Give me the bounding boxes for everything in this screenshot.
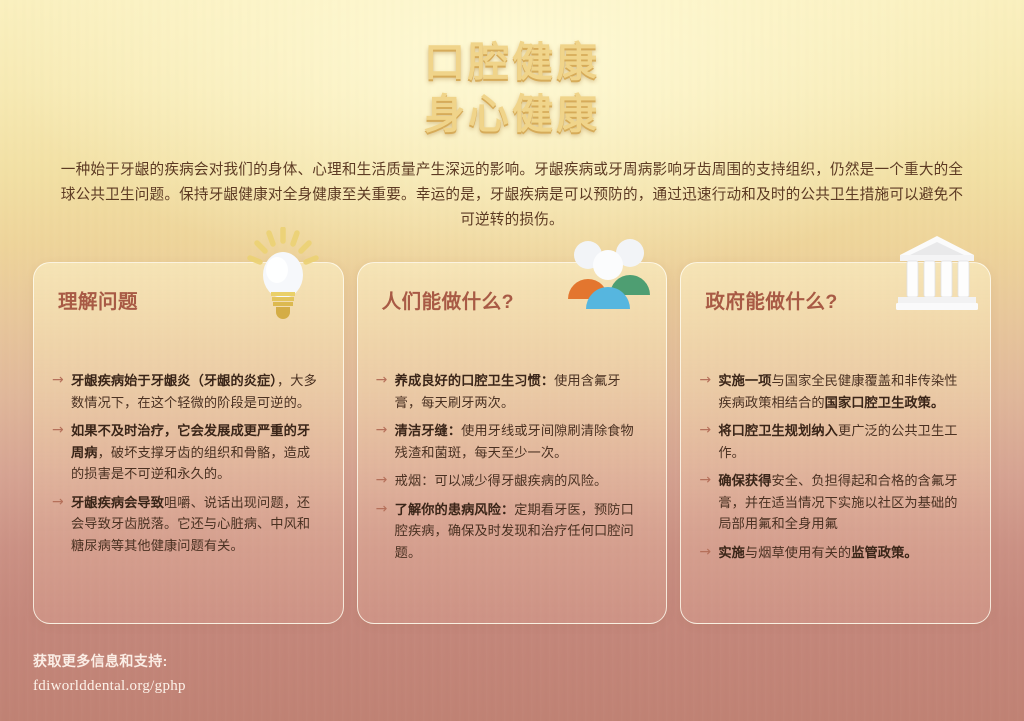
list-item-text: 实施一项与国家全民健康覆盖和非传染性疾病政策相结合的国家口腔卫生政策。 [718,370,968,413]
list-item: → 如果不及时治疗，它会发展成更严重的牙周病，破坏支撑牙齿的组织和骨骼，造成的损… [52,420,321,485]
card-title: 理解问题 [58,285,321,314]
list-item: → 牙龈疾病始于牙龈炎（牙龈的炎症），大多数情况下，在这个轻微的阶段是可逆的。 [52,370,321,413]
card-title: 人们能做什么? [382,285,645,314]
card-container: 理解问题 → 牙龈疾病始于牙龈炎（牙龈的炎症），大多数情况下，在这个轻微的阶段是… [33,262,991,624]
list-item-text: 牙龈疾病始于牙龈炎（牙龈的炎症），大多数情况下，在这个轻微的阶段是可逆的。 [71,370,321,413]
list-item: → 戒烟：可以减少得牙龈疾病的风险。 [376,470,645,492]
list-item-text: 清洁牙缝：使用牙线或牙间隙刷清除食物残渣和菌斑，每天至少一次。 [395,420,645,463]
card-what-governments-can-do: 政府能做什么? → 实施一项与国家全民健康覆盖和非传染性疾病政策相结合的国家口腔… [680,262,991,624]
bullet-list: → 实施一项与国家全民健康覆盖和非传染性疾病政策相结合的国家口腔卫生政策。 → … [699,370,968,563]
list-item: → 确保获得安全、负担得起和合格的含氟牙膏，并在适当情况下实施以社区为基础的局部… [699,470,968,535]
title-line-2: 身心健康 [0,88,1024,140]
list-item: → 实施与烟草使用有关的监管政策。 [699,542,968,564]
card-understand-problem: 理解问题 → 牙龈疾病始于牙龈炎（牙龈的炎症），大多数情况下，在这个轻微的阶段是… [33,262,344,624]
intro-paragraph: 一种始于牙龈的疾病会对我们的身体、心理和生活质量产生深远的影响。牙龈疾病或牙周病… [60,158,964,233]
list-item-text: 牙龈疾病会导致咀嚼、说话出现问题，还会导致牙齿脱落。它还与心脏病、中风和糖尿病等… [71,492,321,557]
arrow-right-icon: → [52,420,71,442]
page-title: 口腔健康 身心健康 [0,36,1024,140]
list-item-text: 实施与烟草使用有关的监管政策。 [718,542,968,564]
arrow-right-icon: → [699,470,718,492]
arrow-right-icon: → [699,420,718,442]
bullet-list: → 养成良好的口腔卫生习惯：使用含氟牙膏，每天刷牙两次。 → 清洁牙缝：使用牙线… [376,370,645,563]
arrow-right-icon: → [376,370,395,392]
arrow-right-icon: → [376,420,395,442]
card-title: 政府能做什么? [705,285,968,314]
footer-url[interactable]: fdiworlddental.org/gphp [33,678,186,695]
poster-root: 口腔健康 身心健康 一种始于牙龈的疾病会对我们的身体、心理和生活质量产生深远的影… [0,0,1024,721]
title-line-1: 口腔健康 [0,36,1024,88]
list-item: → 牙龈疾病会导致咀嚼、说话出现问题，还会导致牙齿脱落。它还与心脏病、中风和糖尿… [52,492,321,557]
arrow-right-icon: → [699,370,718,392]
arrow-right-icon: → [376,470,395,492]
card-what-people-can-do: 人们能做什么? → 养成良好的口腔卫生习惯：使用含氟牙膏，每天刷牙两次。 → 清… [357,262,668,624]
list-item-text: 戒烟：可以减少得牙龈疾病的风险。 [395,470,645,492]
list-item: → 清洁牙缝：使用牙线或牙间隙刷清除食物残渣和菌斑，每天至少一次。 [376,420,645,463]
list-item-text: 养成良好的口腔卫生习惯：使用含氟牙膏，每天刷牙两次。 [395,370,645,413]
arrow-right-icon: → [52,492,71,514]
list-item-text: 了解你的患病风险：定期看牙医，预防口腔疾病，确保及时发现和治疗任何口腔问题。 [395,499,645,564]
footer-label: 获取更多信息和支持: [33,651,186,671]
footer: 获取更多信息和支持: fdiworlddental.org/gphp [33,651,186,695]
list-item-text: 将口腔卫生规划纳入更广泛的公共卫生工作。 [718,420,968,463]
arrow-right-icon: → [52,370,71,392]
list-item: → 实施一项与国家全民健康覆盖和非传染性疾病政策相结合的国家口腔卫生政策。 [699,370,968,413]
arrow-right-icon: → [376,499,395,521]
list-item: → 了解你的患病风险：定期看牙医，预防口腔疾病，确保及时发现和治疗任何口腔问题。 [376,499,645,564]
list-item-text: 确保获得安全、负担得起和合格的含氟牙膏，并在适当情况下实施以社区为基础的局部用氟… [718,470,968,535]
list-item: → 将口腔卫生规划纳入更广泛的公共卫生工作。 [699,420,968,463]
arrow-right-icon: → [699,542,718,564]
list-item: → 养成良好的口腔卫生习惯：使用含氟牙膏，每天刷牙两次。 [376,370,645,413]
bullet-list: → 牙龈疾病始于牙龈炎（牙龈的炎症），大多数情况下，在这个轻微的阶段是可逆的。 … [52,370,321,556]
list-item-text: 如果不及时治疗，它会发展成更严重的牙周病，破坏支撑牙齿的组织和骨骼，造成的损害是… [71,420,321,485]
